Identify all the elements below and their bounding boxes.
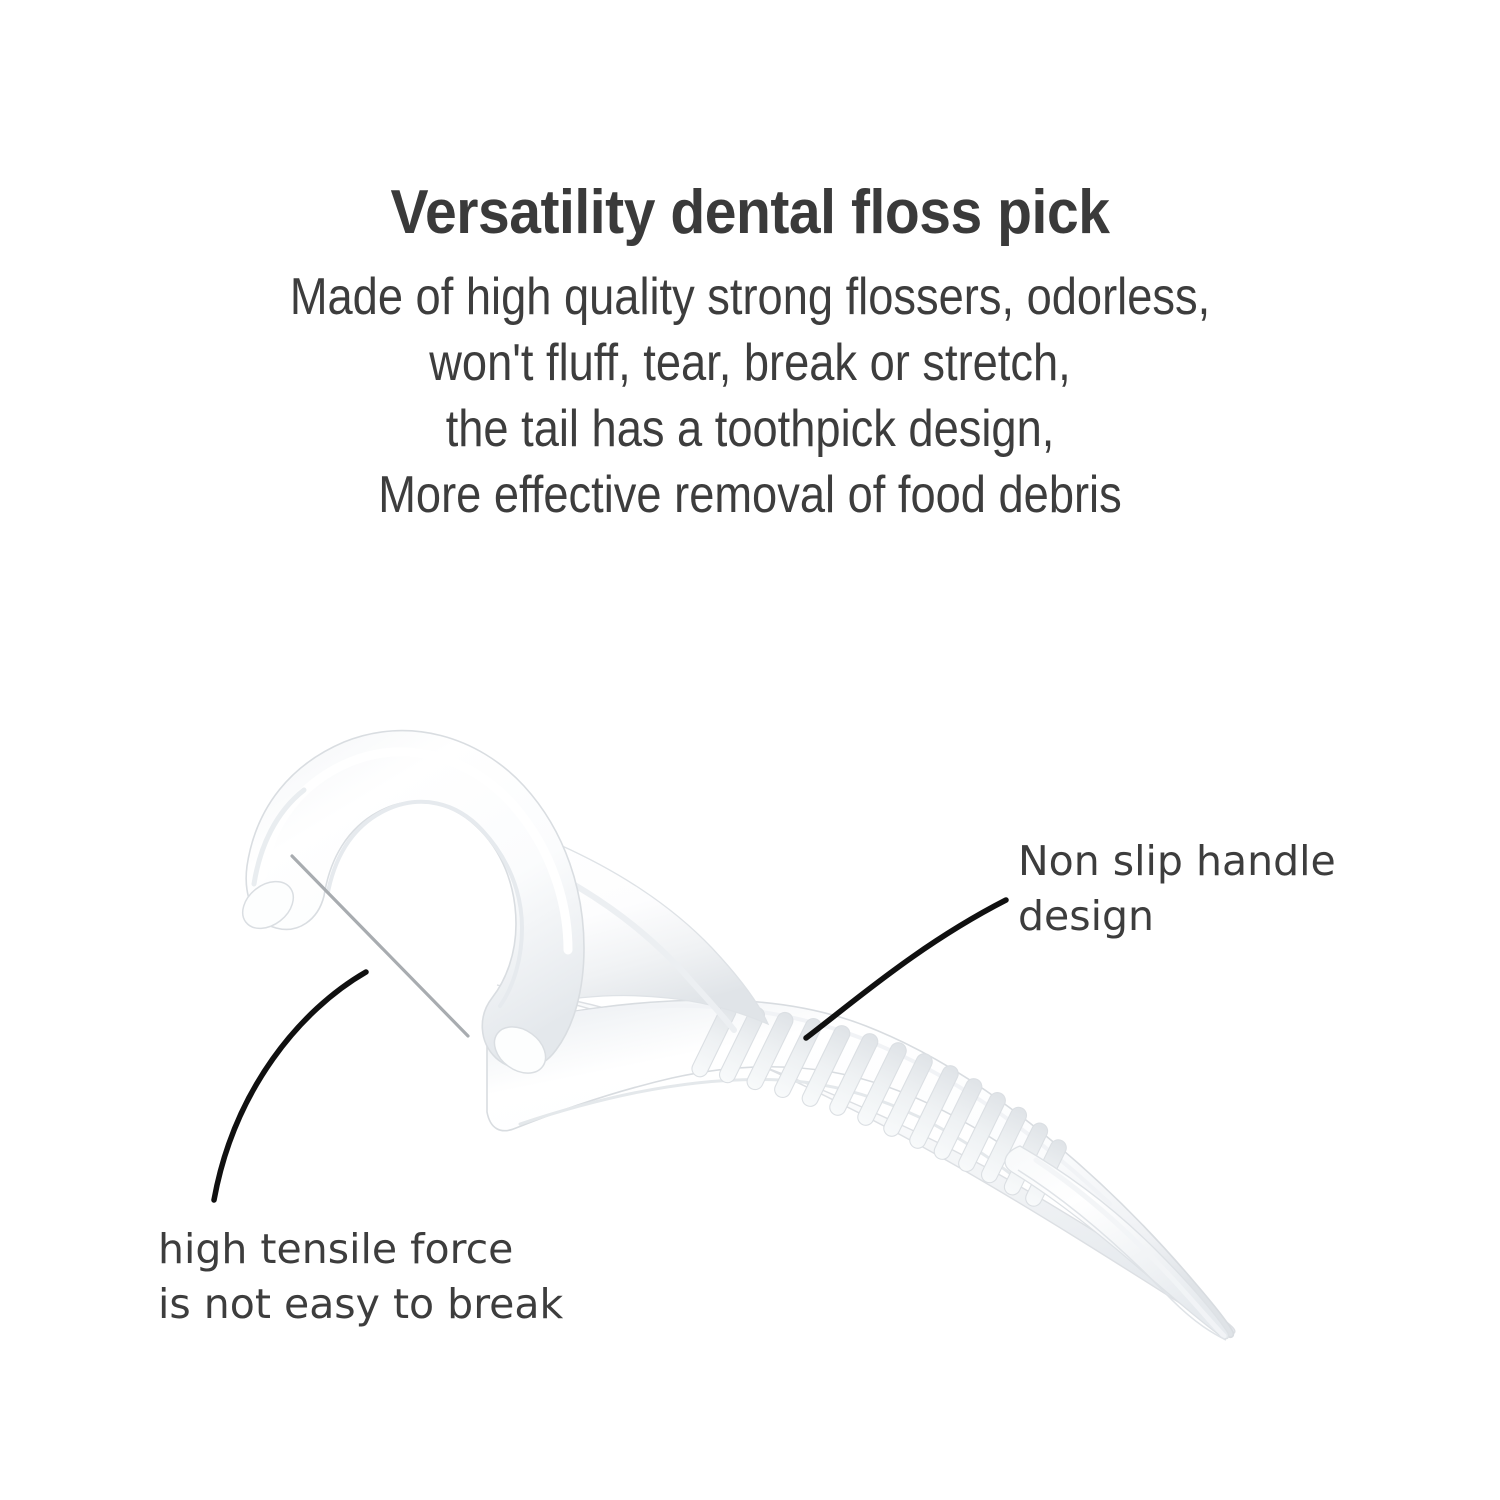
handle-grip-ridges	[689, 1001, 1069, 1209]
handle-bottom-edge	[520, 1079, 1016, 1178]
subtitle-line-2: won't fluff, tear, break or stretch,	[98, 330, 1403, 396]
handle-top-edge-highlight	[560, 1006, 1110, 1204]
neck-web	[540, 845, 768, 1024]
arch-upper-prong-tip	[234, 872, 303, 938]
callout-label-high-tensile-force: high tensile force is not easy to break	[158, 1222, 563, 1332]
neck-inner-shade	[566, 880, 734, 1030]
handle-body	[497, 985, 1235, 1334]
heading-block: Versatility dental floss pick Made of hi…	[0, 176, 1500, 528]
toothpick-tail-highlight	[1036, 1160, 1224, 1336]
product-infographic: Versatility dental floss pick Made of hi…	[0, 0, 1500, 1500]
floss-strand	[292, 856, 468, 1036]
leader-line-floss	[214, 972, 366, 1200]
subtitle-line-1: Made of high quality strong flossers, od…	[98, 264, 1403, 330]
page-title: Versatility dental floss pick	[60, 176, 1440, 250]
arch-outer-highlight	[262, 752, 568, 950]
arch-inner-contour	[328, 802, 522, 1006]
leader-line-handle	[806, 900, 1006, 1038]
subtitle-block: Made of high quality strong flossers, od…	[0, 264, 1500, 528]
subtitle-line-4: More effective removal of food debris	[98, 462, 1403, 528]
subtitle-line-3: the tail has a toothpick design,	[98, 396, 1403, 462]
floss-arch-fork	[246, 731, 584, 1069]
callout-label-non-slip-handle: Non slip handle design	[1018, 834, 1336, 944]
toothpick-tail-edge	[1018, 1170, 1226, 1340]
toothpick-tail	[1005, 1146, 1229, 1339]
arch-lower-prong-tip	[486, 1017, 555, 1082]
handle-slab	[487, 1000, 1233, 1337]
arch-left-prong-shade	[254, 790, 304, 884]
